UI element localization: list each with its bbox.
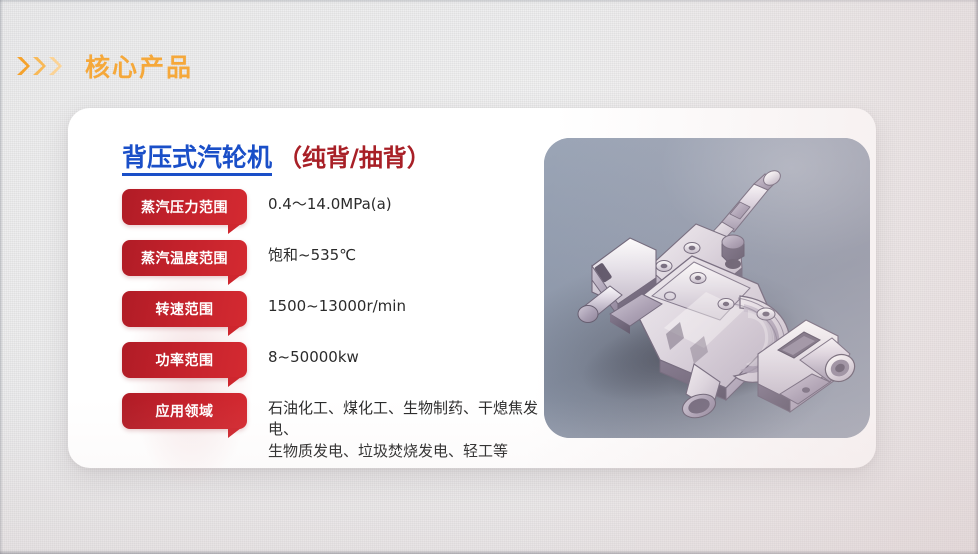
section-header: 核心产品 <box>16 48 193 84</box>
spec-value-text: 0.4～14.0MPa(a) <box>268 188 392 215</box>
spec-label-badge: 蒸汽温度范围 <box>122 240 247 276</box>
spec-label-badge: 应用领域 <box>122 393 247 429</box>
spec-label-text: 蒸汽温度范围 <box>141 248 228 268</box>
spec-panel: 背压式汽轮机（纯背/抽背） 蒸汽压力范围 0.4～14.0MPa(a) 蒸汽温度… <box>122 138 552 451</box>
spec-label-badge: 功率范围 <box>122 342 247 378</box>
product-title-sub: （纯背/抽背） <box>278 144 431 172</box>
slide-edge-left <box>0 0 3 554</box>
product-image <box>544 138 870 438</box>
slide-edge-right <box>974 0 978 554</box>
spec-row: 功率范围 8~50000kw <box>122 341 552 391</box>
slide-edge-top <box>0 0 978 3</box>
spec-label-text: 蒸汽压力范围 <box>141 197 228 217</box>
product-card: 背压式汽轮机（纯背/抽背） 蒸汽压力范围 0.4～14.0MPa(a) 蒸汽温度… <box>68 108 876 468</box>
chevron-right-icon <box>32 55 47 77</box>
spec-label-badge: 蒸汽压力范围 <box>122 189 247 225</box>
chevron-right-icon <box>48 55 63 77</box>
chevron-right-icon <box>16 55 31 77</box>
slide-background: 核心产品 背压式汽轮机（纯背/抽背） 蒸汽压力范围 0.4～14.0MPa(a)… <box>0 0 978 554</box>
product-title-main: 背压式汽轮机 <box>122 143 272 176</box>
spec-row: 蒸汽压力范围 0.4～14.0MPa(a) <box>122 188 552 238</box>
spec-value-text: 石油化工、煤化工、生物制药、干熄焦发电、 生物质发电、垃圾焚烧发电、轻工等 <box>268 392 552 462</box>
spec-row: 应用领域 石油化工、煤化工、生物制药、干熄焦发电、 生物质发电、垃圾焚烧发电、轻… <box>122 392 552 450</box>
spec-label-text: 应用领域 <box>156 401 214 421</box>
page-title: 核心产品 <box>85 48 193 84</box>
spec-label-text: 转速范围 <box>156 299 214 319</box>
spec-row: 蒸汽温度范围 饱和~535℃ <box>122 239 552 289</box>
product-title: 背压式汽轮机（纯背/抽背） <box>122 138 552 174</box>
spec-label-text: 功率范围 <box>156 350 214 370</box>
steam-turbine-3d-render-icon <box>544 138 870 438</box>
spec-row: 转速范围 1500~13000r/min <box>122 290 552 340</box>
spec-value-text: 饱和~535℃ <box>268 239 356 266</box>
spec-value-text: 1500~13000r/min <box>268 290 406 317</box>
spec-label-badge: 转速范围 <box>122 291 247 327</box>
spec-value-text: 8~50000kw <box>268 341 359 368</box>
slide-edge-bottom <box>0 550 978 554</box>
chevron-group <box>16 55 63 77</box>
